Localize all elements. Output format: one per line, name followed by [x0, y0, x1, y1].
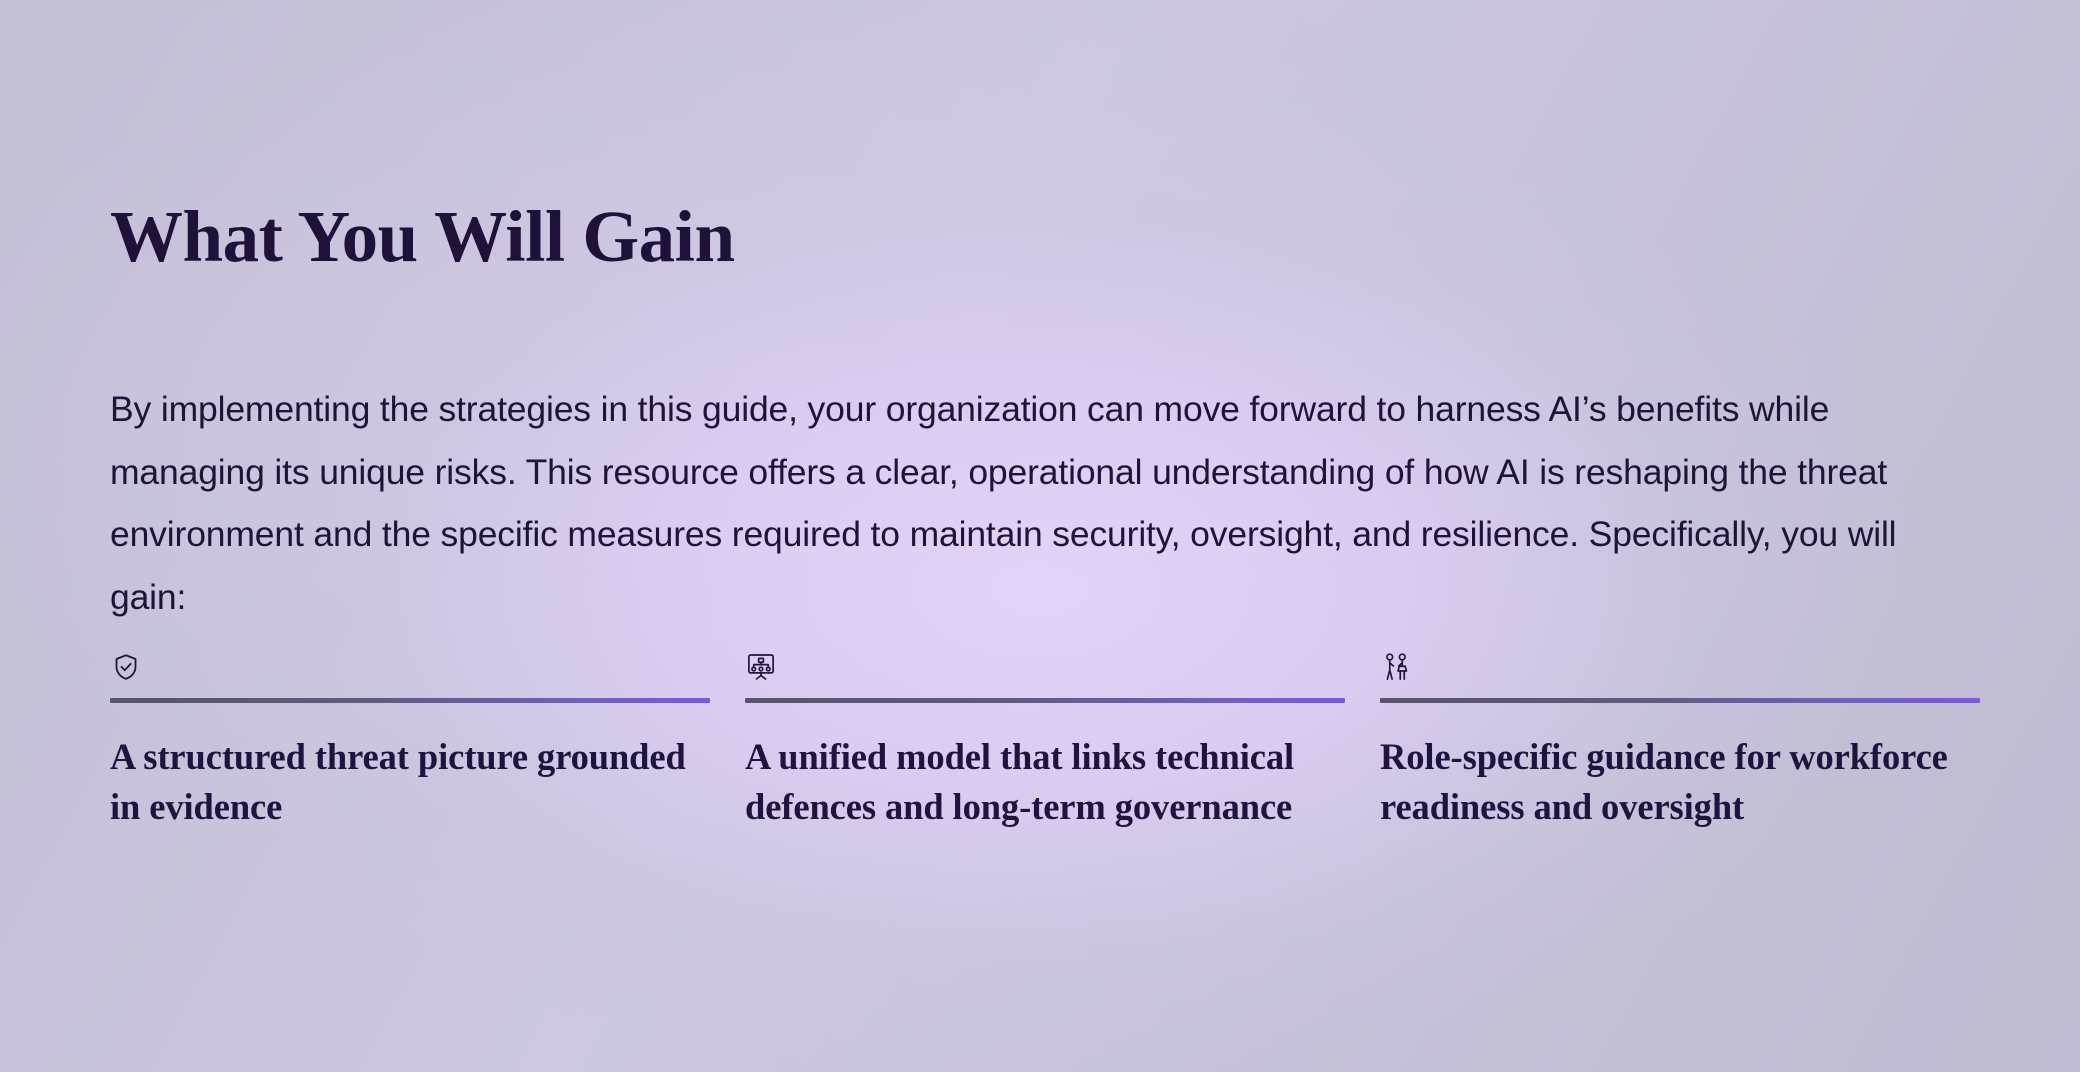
- feature-title: Role-specific guidance for workforce rea…: [1380, 732, 1980, 832]
- feature-card-role-guidance: Role-specific guidance for workforce rea…: [1380, 652, 1980, 832]
- feature-divider: [110, 698, 710, 703]
- feature-title: A unified model that links technical def…: [745, 732, 1345, 832]
- feature-title: A structured threat picture grounded in …: [110, 732, 710, 832]
- slide-content: What You Will Gain By implementing the s…: [110, 0, 1980, 1072]
- feature-columns: A structured threat picture grounded in …: [110, 652, 1980, 832]
- feature-divider: [1380, 698, 1980, 703]
- shield-check-icon: [111, 652, 710, 688]
- two-people-icon: [1381, 652, 1980, 688]
- feature-divider: [745, 698, 1345, 703]
- slide-background: What You Will Gain By implementing the s…: [0, 0, 2080, 1072]
- intro-paragraph: By implementing the strategies in this g…: [110, 378, 1975, 628]
- feature-card-threat-picture: A structured threat picture grounded in …: [110, 652, 710, 832]
- page-title: What You Will Gain: [110, 200, 735, 273]
- presentation-org-chart-icon: [746, 652, 1345, 688]
- feature-card-unified-model: A unified model that links technical def…: [745, 652, 1345, 832]
